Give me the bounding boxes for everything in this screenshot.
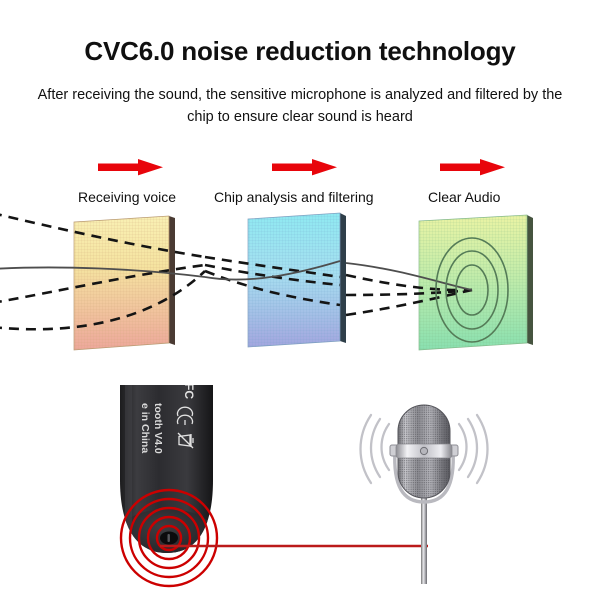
sound-wave-icon-right <box>459 415 488 483</box>
mic-capsule <box>396 405 452 498</box>
print-line-bluetooth: tooth V4.0 <box>152 403 164 454</box>
print-line-origin: e in China <box>139 403 151 453</box>
bluetooth-earbud: tooth V4.0 e in China FC <box>95 385 295 600</box>
step-2-right-arrow-icon <box>272 158 338 176</box>
earbud-print: tooth V4.0 e in China <box>139 403 164 454</box>
sound-wave-icon-left <box>361 415 390 483</box>
page-subtitle: After receiving the sound, the sensitive… <box>28 84 572 128</box>
infographic-root: CVC6.0 noise reduction technology After … <box>0 0 600 600</box>
page-title: CVC6.0 noise reduction technology <box>0 36 600 67</box>
fcc-icon: FC <box>182 385 196 399</box>
sound-wave-lines <box>0 213 472 329</box>
svg-text:FC: FC <box>182 385 196 399</box>
step-1-right-arrow-icon <box>98 158 164 176</box>
step-3-right-arrow-icon <box>440 158 506 176</box>
signal-flow-diagram <box>0 195 600 370</box>
studio-microphone <box>355 398 505 588</box>
receiving-voice-panel <box>74 216 175 350</box>
mic-stem <box>421 496 427 584</box>
